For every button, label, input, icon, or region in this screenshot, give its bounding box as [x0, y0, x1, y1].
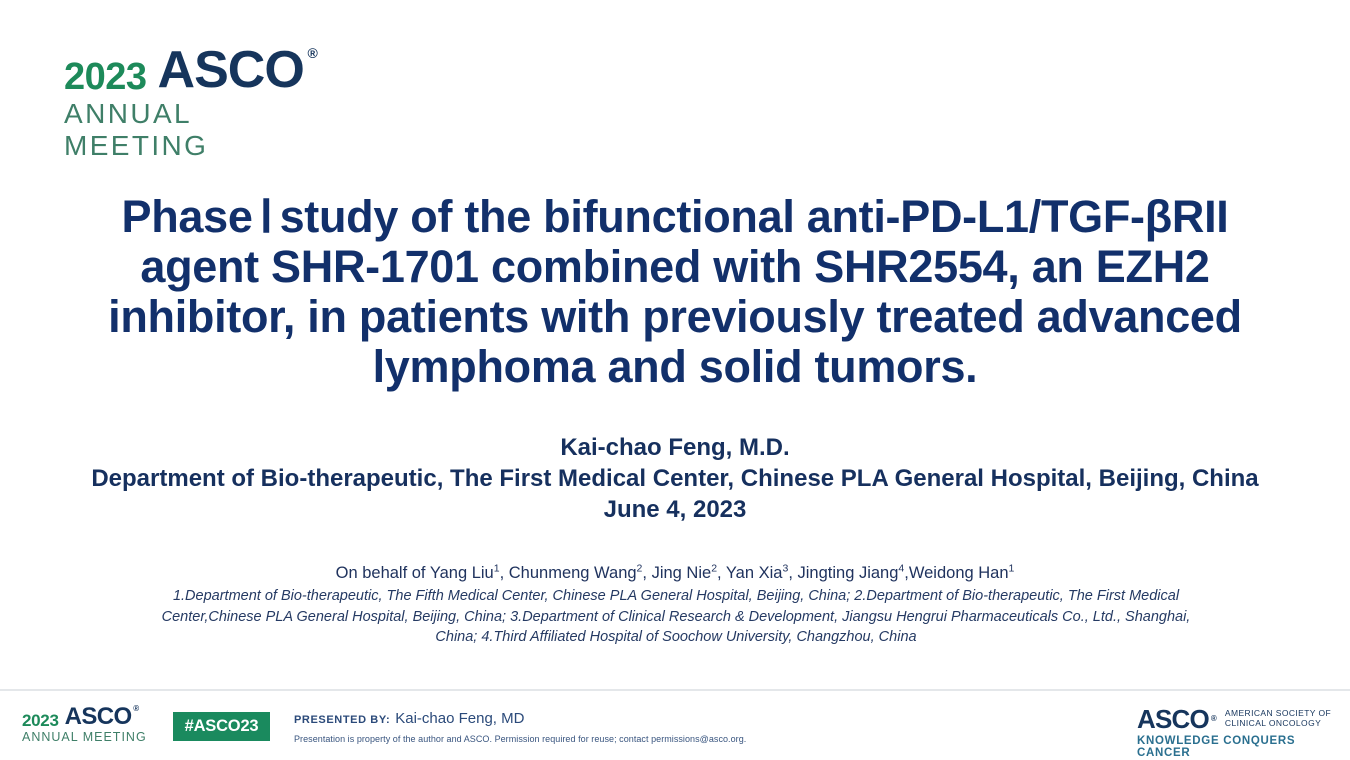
footer-logo-wordmark: ASCO ® — [65, 705, 132, 729]
logo-top-row: 2023 ASCO ® — [64, 50, 334, 96]
footer-logo-wordmark-text: ASCO — [65, 703, 132, 730]
slide-title: PhaseⅠstudy of the bifunctional anti-PD-… — [100, 192, 1250, 392]
society-name: AMERICAN SOCIETY OF CLINICAL ONCOLOGY — [1225, 708, 1331, 728]
affiliation-line-1: 1.Department of Bio-therapeutic, The Fif… — [72, 586, 1280, 607]
footer-logo-top-row: 2023 ASCO ® — [22, 705, 157, 729]
title-line4: lymphoma and solid tumors. — [100, 342, 1250, 392]
society-tagline: KNOWLEDGE CONQUERS CANCER — [1137, 735, 1337, 759]
affiliation-line-3: China; 4.Third Affiliated Hospital of So… — [72, 627, 1280, 648]
author-name: Yan Xia — [726, 564, 783, 582]
author-name: Chunmeng Wang — [509, 564, 637, 582]
author-entry: Yan Xia3, — [726, 564, 798, 582]
author-name: Yang Liu — [430, 564, 494, 582]
presenter-affiliation: Department of Bio-therapeutic, The First… — [60, 463, 1290, 494]
title-line1-part1: Phase — [122, 191, 253, 242]
author-entry: Chunmeng Wang2, — [509, 564, 652, 582]
author-separator: , — [500, 564, 509, 582]
author-separator: , — [642, 564, 651, 582]
society-name-line2: CLINICAL ONCOLOGY — [1225, 718, 1331, 728]
logo-year: 2023 — [64, 58, 147, 96]
presented-by-label: PRESENTED BY: — [294, 714, 390, 726]
author-entry: Jing Nie2, — [652, 564, 726, 582]
title-line2: agent SHR-1701 combined with SHR2554, an… — [100, 242, 1250, 292]
roman-numeral-one: Ⅰ — [253, 192, 280, 242]
author-name: Jing Nie — [652, 564, 712, 582]
asco-annual-meeting-logo: 2023 ASCO ® ANNUAL MEETING — [64, 50, 334, 162]
author-name: Weidong Han — [909, 564, 1009, 582]
author-name: Jingting Jiang — [798, 564, 899, 582]
society-logo-top-row: ASCO ® AMERICAN SOCIETY OF CLINICAL ONCO… — [1137, 706, 1337, 732]
author-separator: , — [788, 564, 797, 582]
permission-note: Presentation is property of the author a… — [294, 734, 746, 744]
society-logo-wordmark: ASCO ® — [1137, 706, 1209, 732]
author-list-prefix: On behalf of — [336, 564, 430, 582]
footer-logo-year: 2023 — [22, 712, 59, 729]
author-list: On behalf of Yang Liu1, Chunmeng Wang2, … — [75, 563, 1275, 583]
presenter-block: Kai-chao Feng, M.D. Department of Bio-th… — [60, 432, 1290, 525]
logo-subtitle: ANNUAL MEETING — [64, 98, 334, 162]
author-separator: , — [717, 564, 726, 582]
author-entry: Weidong Han1 — [909, 564, 1015, 582]
registered-trademark-icon: ® — [133, 705, 138, 713]
presented-by-name: Kai-chao Feng, MD — [395, 710, 524, 727]
society-name-line1: AMERICAN SOCIETY OF — [1225, 708, 1331, 718]
footer-asco-logo: 2023 ASCO ® ANNUAL MEETING — [22, 705, 157, 744]
logo-wordmark: ASCO ® — [158, 44, 304, 96]
asco-society-logo: ASCO ® AMERICAN SOCIETY OF CLINICAL ONCO… — [1137, 706, 1337, 759]
author-entry: Yang Liu1, — [430, 564, 509, 582]
hashtag-badge: #ASCO23 — [173, 712, 270, 741]
affiliation-line-2: Center,Chinese PLA General Hospital, Bei… — [72, 607, 1280, 628]
author-entry: Jingting Jiang4, — [798, 564, 909, 582]
registered-trademark-icon: ® — [307, 46, 316, 60]
affiliations-block: 1.Department of Bio-therapeutic, The Fif… — [72, 586, 1280, 648]
presenter-name: Kai-chao Feng, M.D. — [60, 432, 1290, 463]
logo-wordmark-text: ASCO — [158, 41, 304, 99]
society-logo-wordmark-text: ASCO — [1137, 704, 1209, 734]
title-line1-part2: study of the bifunctional anti-PD-L1/TGF… — [280, 191, 1229, 242]
footer-logo-subtitle: ANNUAL MEETING — [22, 730, 157, 744]
title-line3: inhibitor, in patients with previously t… — [100, 292, 1250, 342]
author-affiliation-marker: 1 — [1009, 563, 1015, 575]
presented-by-block: PRESENTED BY:Kai-chao Feng, MD — [294, 710, 524, 728]
registered-trademark-icon: ® — [1211, 706, 1216, 732]
presentation-date: June 4, 2023 — [60, 494, 1290, 525]
